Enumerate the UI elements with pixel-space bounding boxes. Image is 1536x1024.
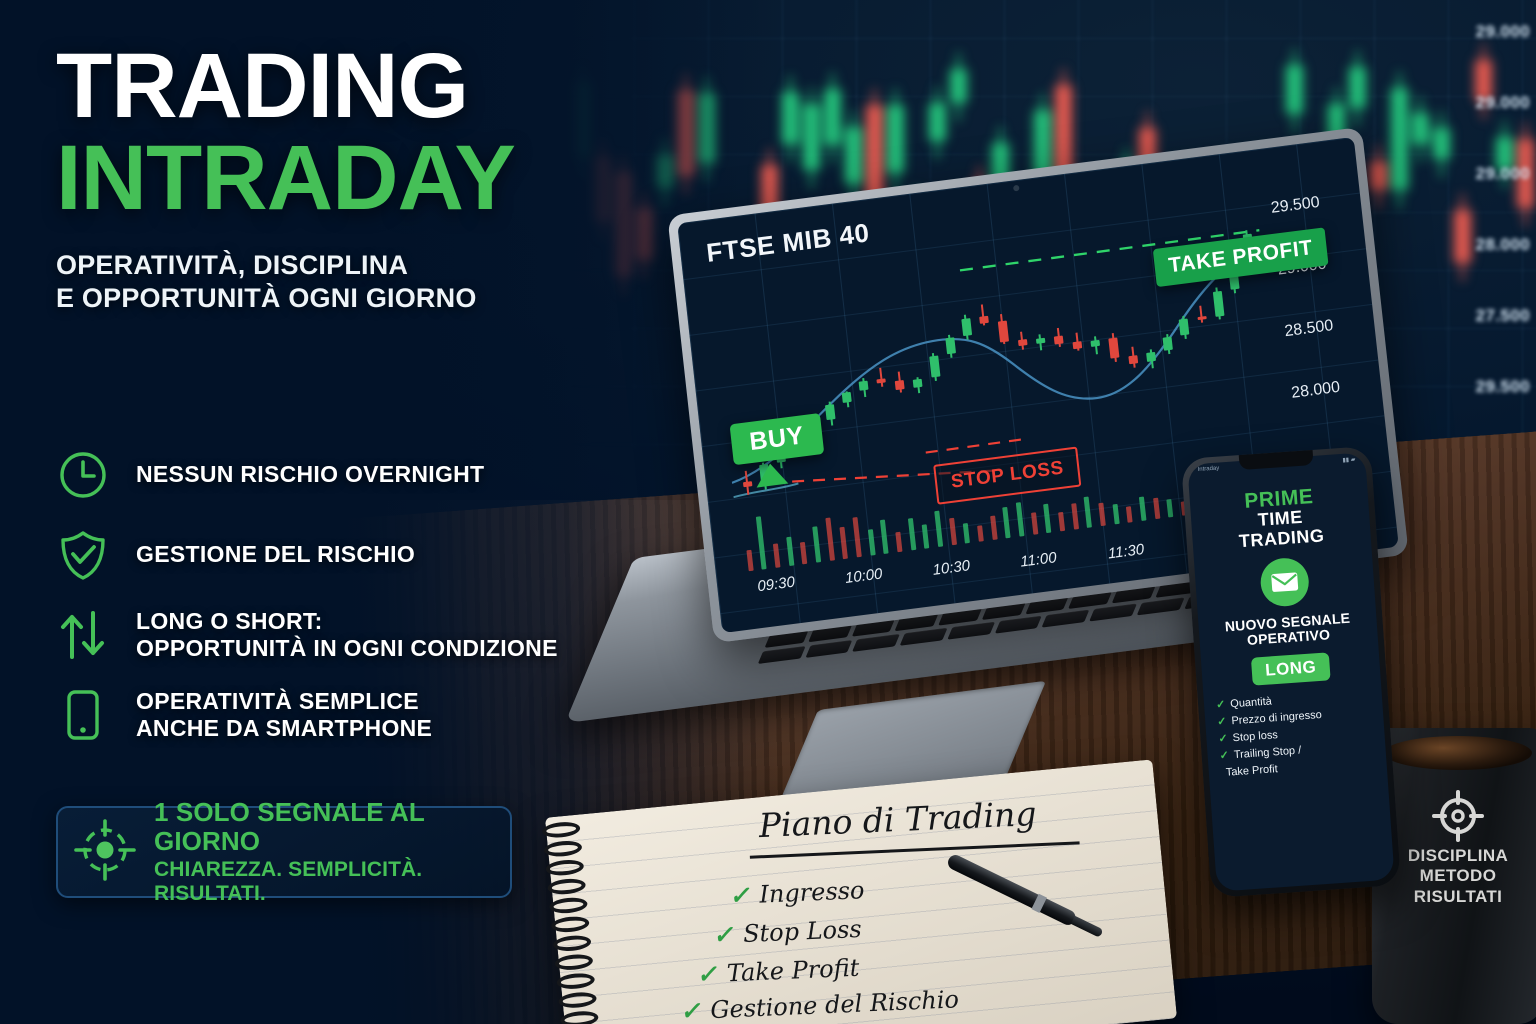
feature-item-risk: GESTIONE DEL RISCHIO bbox=[56, 528, 676, 582]
candle-body bbox=[1146, 352, 1156, 362]
candle-body bbox=[842, 392, 852, 402]
list-item-label: Ingresso bbox=[759, 876, 865, 909]
volume-bar bbox=[825, 518, 835, 561]
candle-body bbox=[979, 316, 989, 324]
feature-label: LONG O SHORT: OPPORTUNITÀ IN OGNI CONDIZ… bbox=[136, 608, 558, 662]
volume-bar bbox=[756, 516, 767, 569]
keyboard-key[interactable] bbox=[805, 640, 853, 658]
check-icon: ✓ bbox=[729, 880, 750, 910]
spiral-ring bbox=[552, 934, 591, 953]
candle-body bbox=[913, 379, 923, 388]
volume-bar bbox=[880, 519, 889, 554]
up-down-arrows-icon bbox=[56, 608, 110, 662]
candle-body bbox=[1091, 340, 1101, 346]
phone-app-logo: PRIME TIME TRADING bbox=[1198, 483, 1362, 555]
background-price-label: 29.000 bbox=[1440, 93, 1530, 113]
volume-bar bbox=[1043, 504, 1051, 533]
list-item: ✓Ingresso bbox=[729, 875, 865, 910]
volume-bar bbox=[1126, 506, 1133, 523]
candle-body bbox=[1163, 336, 1173, 350]
volume-bar bbox=[934, 510, 943, 547]
feature-label: NESSUN RISCHIO OVERNIGHT bbox=[136, 461, 484, 488]
background-candle bbox=[950, 69, 967, 103]
feature-label: OPERATIVITÀ SEMPLICE ANCHE DA SMARTPHONE bbox=[136, 688, 432, 742]
volume-bar bbox=[1016, 502, 1025, 537]
candle-body bbox=[945, 337, 956, 354]
check-icon: ✓ bbox=[696, 959, 717, 989]
list-item-label: Trailing Stop / bbox=[1233, 745, 1301, 762]
spiral-ring bbox=[547, 877, 586, 896]
hero-copy: TRADING INTRADAY OPERATIVITÀ, DISCIPLINA… bbox=[56, 44, 656, 315]
list-item-label: Stop loss bbox=[1232, 729, 1278, 744]
target-crosshair-icon bbox=[1432, 790, 1484, 842]
feature-item-overnight: NESSUN RISCHIO OVERNIGHT bbox=[56, 448, 676, 502]
volume-bar bbox=[990, 515, 998, 540]
keyboard-key[interactable] bbox=[758, 646, 806, 664]
spiral-ring bbox=[551, 915, 590, 934]
volume-bar bbox=[1139, 496, 1147, 521]
hero-subtitle: OPERATIVITÀ, DISCIPLINA E OPPORTUNITÀ OG… bbox=[56, 249, 656, 315]
badge-headline: 1 SOLO SEGNALE AL GIORNO bbox=[154, 798, 494, 855]
smartphone-device: Intraday ▮▮ ▰ PRIME TIME TRADING NUOVO S… bbox=[1181, 446, 1401, 898]
volume-bar bbox=[1167, 499, 1174, 517]
list-item-label: Prezzo di ingresso bbox=[1231, 709, 1322, 727]
coffee-surface bbox=[1384, 736, 1532, 770]
list-item-label: Take Profit bbox=[726, 954, 860, 988]
envelope-icon bbox=[1259, 556, 1310, 607]
background-candle bbox=[824, 89, 841, 145]
check-icon: ✓ bbox=[1217, 716, 1227, 729]
volume-bar bbox=[853, 517, 862, 557]
keyboard-key[interactable] bbox=[1089, 604, 1137, 622]
candle-body bbox=[1129, 355, 1139, 364]
volume-bar bbox=[1153, 498, 1160, 519]
feature-label-line1: GESTIONE DEL RISCHIO bbox=[136, 541, 415, 568]
candle-body bbox=[859, 381, 869, 391]
phone-checklist: ✓Quantità✓Prezzo di ingresso✓Stop loss✓T… bbox=[1213, 688, 1378, 779]
x-axis-tick-label: 09:30 bbox=[757, 574, 796, 596]
candle-body bbox=[825, 404, 836, 421]
keyboard-key[interactable] bbox=[1137, 597, 1185, 615]
signal-direction-badge[interactable]: LONG bbox=[1251, 652, 1331, 685]
feature-list: NESSUN RISCHIO OVERNIGHT GESTIONE DEL RI… bbox=[56, 448, 676, 769]
hero-subtitle-line2: E OPPORTUNITÀ OGNI GIORNO bbox=[56, 282, 656, 315]
shield-check-icon bbox=[56, 528, 110, 582]
background-candle bbox=[1286, 65, 1303, 115]
volume-bar bbox=[1058, 512, 1065, 531]
keyboard-key[interactable] bbox=[900, 628, 948, 646]
y-axis-tick-label: 28.000 bbox=[1290, 374, 1373, 402]
volume-bar bbox=[786, 537, 794, 566]
candle-body bbox=[1073, 341, 1083, 349]
check-icon: ✓ bbox=[712, 920, 733, 950]
volume-bar bbox=[908, 518, 916, 550]
volume-bar bbox=[773, 543, 781, 568]
status-badge: 1 SOLO SEGNALE AL GIORNO CHIAREZZA. SEMP… bbox=[56, 806, 512, 898]
feature-label-line1: LONG O SHORT: bbox=[136, 608, 558, 635]
candle-body bbox=[1054, 336, 1064, 345]
list-item-label: Take Profit bbox=[1225, 763, 1278, 779]
mug-line3: RISULTATI bbox=[1372, 887, 1536, 907]
candle-body bbox=[961, 318, 972, 336]
feature-label-line2: OPPORTUNITÀ IN OGNI CONDIZIONE bbox=[136, 635, 558, 662]
volume-bar bbox=[840, 527, 848, 559]
check-icon: ✓ bbox=[1219, 750, 1229, 763]
keyboard-key[interactable] bbox=[995, 616, 1043, 634]
spiral-ring bbox=[549, 896, 588, 915]
volume-bar bbox=[1031, 512, 1038, 535]
spiral-ring bbox=[545, 858, 584, 877]
signal-battery-icon: ▮▮ ▰ bbox=[1342, 456, 1355, 464]
candle-body bbox=[895, 380, 905, 390]
check-icon: ✓ bbox=[1216, 699, 1226, 712]
clock-icon bbox=[56, 448, 110, 502]
feature-label: GESTIONE DEL RISCHIO bbox=[136, 541, 415, 568]
keyboard-key[interactable] bbox=[947, 622, 995, 640]
background-price-label: 27.500 bbox=[1440, 306, 1530, 326]
background-price-label: 29.000 bbox=[1440, 164, 1530, 184]
background-price-axis: 29.00029.00029.00028.00027.50029.500 bbox=[1440, 22, 1530, 448]
background-candle bbox=[1412, 113, 1429, 144]
smartphone-icon bbox=[56, 688, 110, 742]
badge-subline: CHIAREZZA. SEMPLICITÀ. RISULTATI. bbox=[154, 858, 494, 906]
background-price-label: 28.000 bbox=[1440, 235, 1530, 255]
volume-bar bbox=[1084, 497, 1092, 528]
feature-label-line1: NESSUN RISCHIO OVERNIGHT bbox=[136, 461, 484, 488]
list-item-label: Quantità bbox=[1230, 695, 1272, 710]
spiral-ring bbox=[558, 991, 597, 1010]
feature-item-long-short: LONG O SHORT: OPPORTUNITÀ IN OGNI CONDIZ… bbox=[56, 608, 676, 662]
volume-bar bbox=[1112, 504, 1119, 524]
keyboard-key[interactable] bbox=[1042, 610, 1090, 628]
volume-bar bbox=[949, 517, 957, 545]
spiral-ring bbox=[560, 1010, 599, 1024]
hero-subtitle-line1: OPERATIVITÀ, DISCIPLINA bbox=[56, 249, 656, 282]
page-title-line1: TRADING bbox=[56, 44, 656, 129]
volume-bar bbox=[895, 532, 902, 552]
volume-bar bbox=[922, 524, 930, 549]
background-candle bbox=[782, 92, 799, 143]
status-left: Intraday bbox=[1197, 466, 1219, 474]
volume-bar bbox=[1098, 503, 1105, 527]
feature-label-line1: OPERATIVITÀ SEMPLICE bbox=[136, 688, 432, 715]
badge-text: 1 SOLO SEGNALE AL GIORNO CHIAREZZA. SEMP… bbox=[154, 798, 494, 905]
spiral-ring bbox=[556, 972, 595, 991]
background-candle bbox=[1349, 67, 1366, 108]
x-axis-tick-label: 10:30 bbox=[932, 557, 971, 579]
feature-label-line2: ANCHE DA SMARTPHONE bbox=[136, 715, 432, 742]
check-icon: ✓ bbox=[1218, 733, 1228, 746]
volume-bar bbox=[963, 523, 970, 543]
page-title-line2: INTRADAY bbox=[56, 133, 656, 223]
target-crosshair-icon bbox=[74, 819, 136, 886]
keyboard-key[interactable] bbox=[853, 634, 901, 652]
background-candle bbox=[929, 103, 946, 141]
volume-bar bbox=[977, 525, 984, 542]
volume-bar bbox=[812, 526, 821, 563]
volume-bar bbox=[746, 550, 753, 571]
feature-item-smartphone: OPERATIVITÀ SEMPLICE ANCHE DA SMARTPHONE bbox=[56, 688, 676, 742]
phone-headline: NUOVO SEGNALE OPERATIVO bbox=[1207, 609, 1369, 651]
spiral-ring bbox=[554, 953, 593, 972]
spiral-ring bbox=[543, 839, 582, 858]
background-price-label: 29.000 bbox=[1440, 22, 1530, 42]
poster-canvas: 29.00029.00029.00028.00027.50029.500 TRA… bbox=[0, 0, 1536, 1024]
x-axis-tick-label: 10:00 bbox=[844, 565, 883, 587]
volume-bar bbox=[868, 529, 876, 556]
volume-bar bbox=[1071, 503, 1079, 530]
list-item-label: Stop Loss bbox=[743, 915, 863, 948]
buy-arrow-icon bbox=[754, 462, 788, 488]
check-icon: ✓ bbox=[680, 996, 701, 1024]
spiral-ring bbox=[542, 821, 581, 840]
phone-screen: Intraday ▮▮ ▰ PRIME TIME TRADING NUOVO S… bbox=[1187, 452, 1394, 891]
phone-body: Intraday ▮▮ ▰ PRIME TIME TRADING NUOVO S… bbox=[1181, 446, 1401, 898]
y-axis-tick-label: 28.500 bbox=[1284, 313, 1367, 341]
volume-bar bbox=[1003, 507, 1011, 538]
background-price-label: 29.500 bbox=[1440, 377, 1530, 397]
volume-bar bbox=[800, 542, 807, 565]
